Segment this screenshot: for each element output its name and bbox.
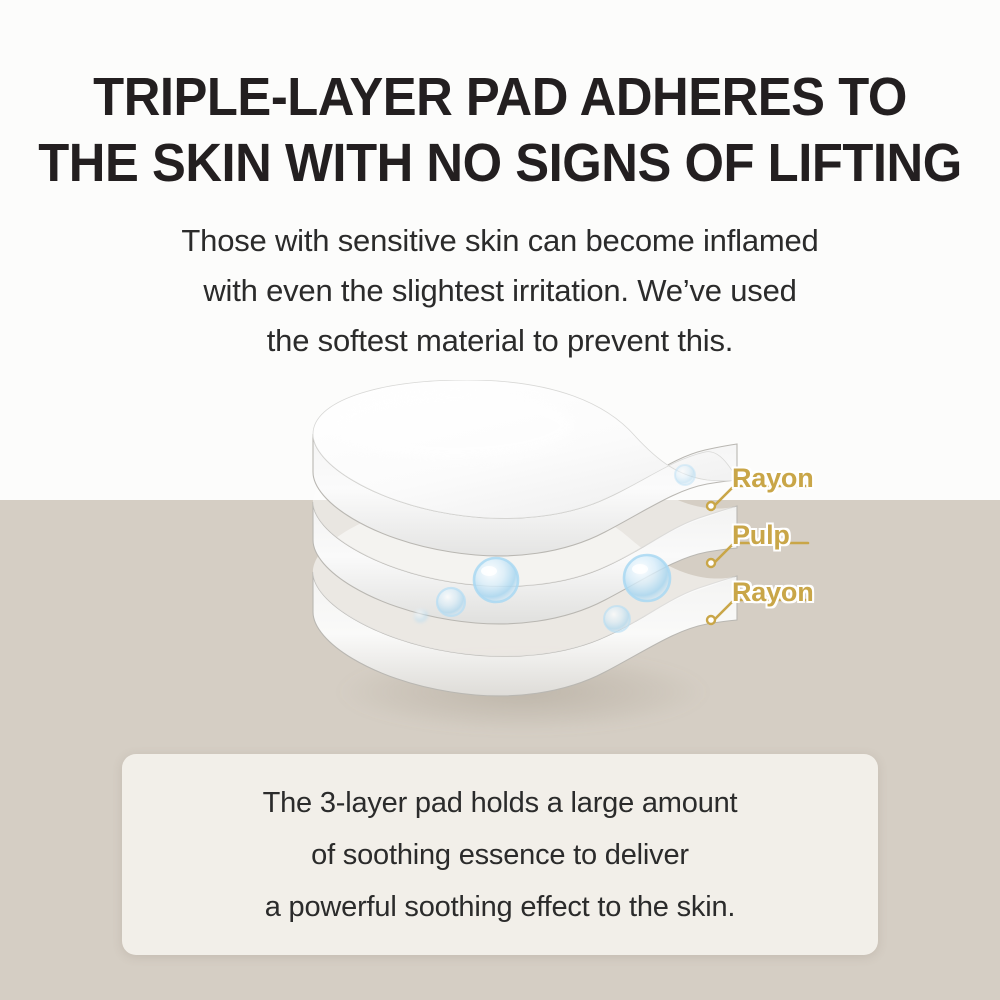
intro-line-3: the softest material to prevent this. [0, 316, 1000, 366]
bubble-icon [414, 609, 428, 623]
leader-dot-rayon-bottom [707, 616, 715, 624]
intro-paragraph: Those with sensitive skin can become inf… [0, 216, 1000, 366]
caption-line-2: of soothing essence to deliver [263, 829, 738, 881]
headline-line-2: THE SKIN WITH NO SIGNS OF LIFTING [30, 130, 970, 196]
caption-line-1: The 3-layer pad holds a large amount [263, 777, 738, 829]
caption-card: The 3-layer pad holds a large amount of … [122, 754, 878, 955]
caption-line-3: a powerful soothing effect to the skin. [263, 881, 738, 933]
callout-label-pulp: Pulp [732, 520, 790, 551]
leader-dot-pulp [707, 559, 715, 567]
product-infographic: TRIPLE-LAYER PAD ADHERES TO THE SKIN WIT… [0, 0, 1000, 1000]
material-callouts: Rayon Pulp Rayon [690, 455, 1000, 645]
intro-line-2: with even the slightest irritation. We’v… [0, 266, 1000, 316]
caption-text: The 3-layer pad holds a large amount of … [263, 777, 738, 933]
headline: TRIPLE-LAYER PAD ADHERES TO THE SKIN WIT… [30, 64, 970, 196]
callout-label-rayon-bottom: Rayon [732, 577, 814, 608]
headline-line-1: TRIPLE-LAYER PAD ADHERES TO [30, 64, 970, 130]
callout-label-rayon-top: Rayon [732, 463, 814, 494]
intro-line-1: Those with sensitive skin can become inf… [0, 216, 1000, 266]
leader-dot-rayon-top [707, 502, 715, 510]
